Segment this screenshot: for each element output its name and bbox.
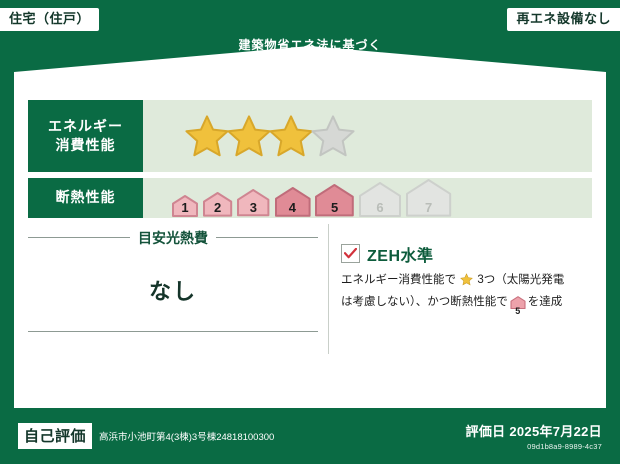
inline-star-icon	[457, 277, 476, 289]
insulation-level-number: 3	[236, 200, 270, 215]
insulation-level-number: 4	[274, 200, 312, 215]
insulation-level-house: 7	[405, 178, 452, 218]
energy-performance-value	[143, 100, 592, 172]
zeh-block: ZEH水準 エネルギー消費性能で 3つ（太陽光発電 は考慮しない）、かつ断熱性能…	[341, 224, 592, 354]
evaluation-date-label: 評価日	[466, 424, 506, 439]
energy-label-root: 住宅（住戸） 再エネ設備なし 建築物省エネ法に基づく 省エネ性能ラベル エネルギ…	[0, 0, 620, 464]
star-rating	[185, 114, 353, 158]
insulation-performance-row: 断熱性能 1234567	[28, 178, 592, 218]
insulation-level-house: 4	[274, 186, 312, 218]
evaluation-id: 09d1b8a9-8989-4c37	[466, 442, 602, 451]
energy-performance-label: エネルギー 消費性能	[28, 100, 143, 172]
check-icon	[344, 248, 357, 259]
insulation-level-house: 6	[358, 181, 402, 218]
zeh-title: ZEH水準	[367, 242, 434, 266]
utility-cost-block: 目安光熱費 なし	[28, 224, 328, 354]
zeh-heading: ZEH水準	[341, 242, 592, 266]
insulation-level-house: 5	[314, 183, 355, 217]
tab-renewable-status: 再エネ設備なし	[507, 8, 620, 31]
utility-cost-bottom-rule	[28, 331, 318, 332]
zeh-desc-line2-b: を達成	[528, 296, 563, 308]
title-subtitle: 建築物省エネ法に基づく	[0, 36, 620, 53]
vertical-divider	[328, 224, 329, 354]
insulation-level-number: 7	[405, 200, 452, 215]
insulation-performance-value: 1234567	[143, 178, 592, 218]
star-filled-icon	[269, 114, 313, 158]
energy-label-line2: 消費性能	[56, 136, 116, 155]
title-main: 省エネ性能ラベル	[0, 55, 620, 87]
tab-building-type: 住宅（住戸）	[0, 8, 99, 31]
footer: 自己評価 高浜市小池町第4(3棟)3号棟24818100300 評価日 2025…	[0, 408, 620, 464]
zeh-desc-line1-a: エネルギー消費性能で	[341, 274, 456, 286]
property-address: 高浜市小池町第4(3棟)3号棟24818100300	[99, 429, 274, 443]
star-empty-icon	[311, 114, 355, 158]
insulation-level-house: 3	[236, 188, 270, 217]
evaluation-date: 評価日 2025年7月22日	[466, 424, 602, 439]
lower-section: 目安光熱費 なし ZEH水準 エネルギー消費性能で	[28, 224, 592, 354]
utility-cost-heading: 目安光熱費	[28, 228, 318, 248]
evaluation-info: 評価日 2025年7月22日 09d1b8a9-8989-4c37	[466, 421, 602, 451]
insulation-level-house: 1	[171, 194, 199, 218]
star-filled-icon	[227, 114, 271, 158]
bottom-strip	[0, 460, 620, 464]
zeh-description: エネルギー消費性能で 3つ（太陽光発電 は考慮しない）、かつ断熱性能で 5 を達…	[341, 271, 592, 316]
title-block: 建築物省エネ法に基づく 省エネ性能ラベル	[0, 30, 620, 92]
inline-house-icon: 5	[510, 296, 526, 316]
energy-label-line1: エネルギー	[48, 117, 123, 136]
energy-performance-row: エネルギー 消費性能	[28, 100, 592, 172]
zeh-desc-line1-b: 3つ（太陽光発電	[477, 274, 564, 286]
rule-left	[28, 237, 130, 238]
insulation-performance-label: 断熱性能	[28, 178, 143, 218]
inline-house-number: 5	[510, 307, 526, 316]
insulation-level-number: 5	[314, 200, 355, 215]
zeh-desc-line2-a: は考慮しない）、かつ断熱性能で	[341, 296, 508, 308]
self-evaluation-badge: 自己評価	[18, 423, 92, 449]
utility-cost-value: なし	[28, 274, 318, 306]
rule-right	[216, 237, 318, 238]
insulation-level-number: 1	[171, 200, 199, 215]
insulation-scale: 1234567	[171, 178, 452, 218]
utility-cost-heading-text: 目安光熱費	[138, 228, 208, 248]
insulation-level-house: 2	[202, 191, 233, 218]
insulation-level-number: 2	[202, 200, 233, 215]
insulation-level-number: 6	[358, 200, 402, 215]
evaluation-date-value: 2025年7月22日	[509, 424, 602, 439]
zeh-checkbox[interactable]	[341, 244, 360, 263]
label-content: エネルギー 消費性能 断熱性能 1234567 目安光熱費 なし	[14, 92, 606, 408]
star-filled-icon	[185, 114, 229, 158]
